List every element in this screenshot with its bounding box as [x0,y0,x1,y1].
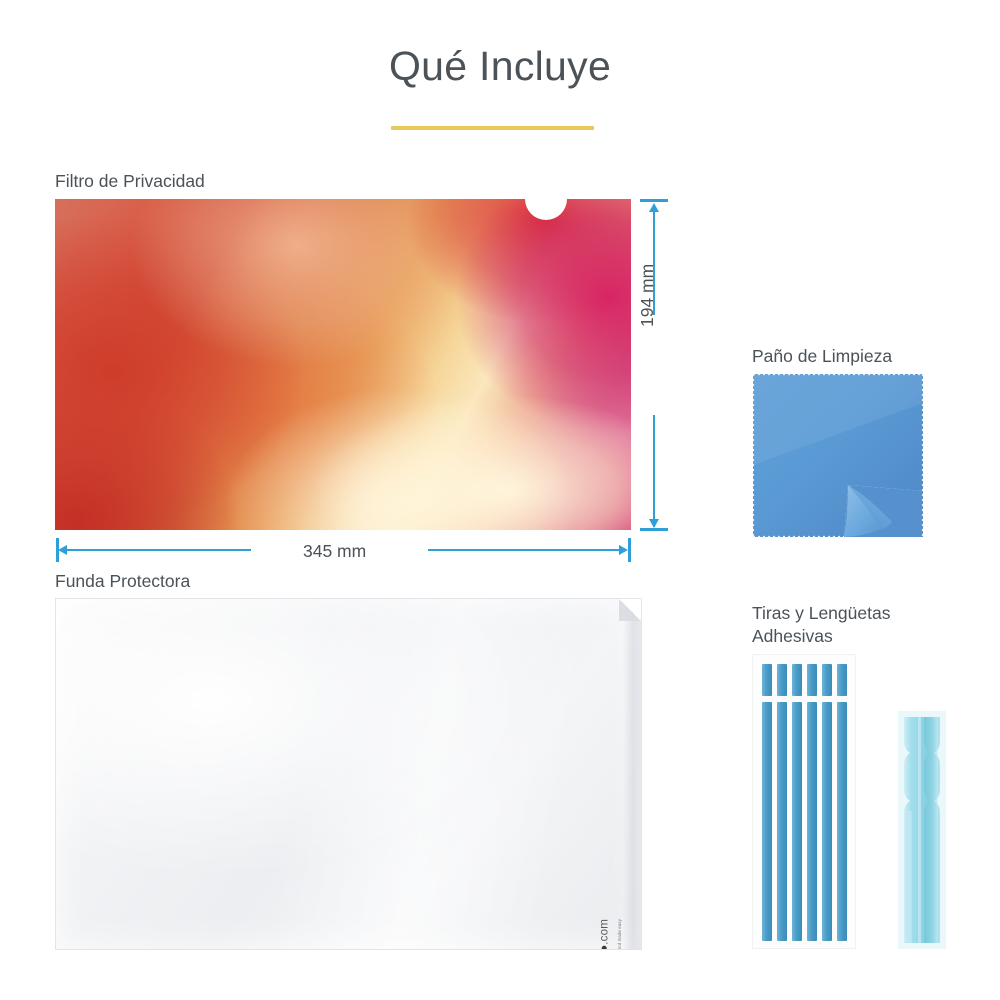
height-dimension-label: 194 mm [637,264,658,327]
sleeve-sheen-highlight [55,598,642,950]
title-underline-rule [391,126,594,130]
arrow-right-icon [619,545,628,555]
protective-sleeve-caption: Funda Protectora [55,570,190,593]
arrow-down-icon [649,519,659,528]
adhesive-strip-body [777,702,787,941]
cleaning-cloth-caption: Paño de Limpieza [752,345,892,368]
protective-sleeve-icon: StarTech.com Hard-to-find made easy [55,598,642,950]
dimension-line-horizontal-right [428,549,620,551]
privacy-filter-panel-icon [55,199,631,530]
adhesive-strip-tab [762,664,772,696]
adhesive-strip-body [837,702,847,941]
startech-logo-suffix: .com [599,919,611,945]
dimension-line-horizontal-left [66,549,251,551]
dimension-tick-right [628,538,631,562]
adhesive-strip-body [762,702,772,941]
adhesive-strip-body [807,702,817,941]
adhesive-tab-piece-icon [898,711,946,949]
camera-notch-cutout [525,199,567,220]
arrow-up-icon [649,203,659,212]
startech-logo: StarTech.com [599,919,611,950]
microfiber-cloth-icon [752,373,924,538]
adhesive-strip-body [792,702,802,941]
dimension-line-vertical-lower [653,415,655,527]
adhesive-strips-caption: Tiras y Lengüetas Adhesivas [752,602,890,648]
infographic-page: Qué Incluye Filtro de Privacidad 194 mm … [0,0,1000,1000]
adhesive-strips-sheet-icon [752,654,856,949]
adhesive-strip-body [822,702,832,941]
startech-logo-dot-icon [602,945,607,950]
sleeve-corner-cut [619,599,641,621]
page-title: Qué Incluye [0,44,1000,89]
arrow-left-icon [58,545,67,555]
width-dimension-label: 345 mm [303,541,366,562]
privacy-filter-caption: Filtro de Privacidad [55,170,205,193]
startech-tagline: Hard-to-find made easy [617,919,622,950]
dimension-tick-top [640,199,668,202]
adhesive-strip-tab [807,664,817,696]
sleeve-edge-fold [623,599,641,950]
adhesive-strip-tab [792,664,802,696]
adhesive-strip-tab [837,664,847,696]
adhesive-strip-tab [822,664,832,696]
dimension-tick-bottom [640,528,668,531]
adhesive-strip-tab [777,664,787,696]
privacy-filter-figure [55,199,631,530]
